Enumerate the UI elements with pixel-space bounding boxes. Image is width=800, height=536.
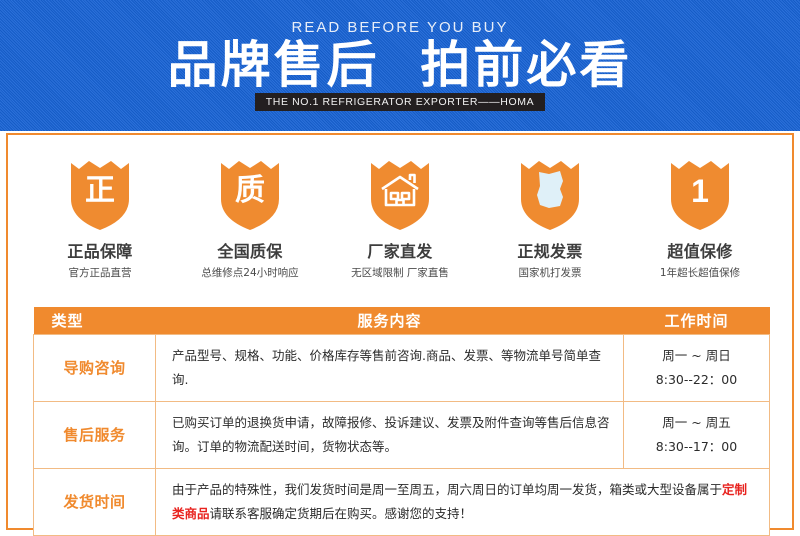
- column-header-content: 服务内容: [156, 307, 624, 334]
- shield-zheng-icon: 正: [69, 159, 131, 231]
- feature-subtitle-3: 国家机打发票: [519, 265, 582, 280]
- service-table-head: 类型 服务内容 工作时间: [34, 307, 770, 334]
- row-hours-days-1: 周一 ~ 周五: [628, 411, 765, 435]
- table-header-row: 类型 服务内容 工作时间: [34, 307, 770, 334]
- feature-subtitle-2: 无区域限制 厂家直售: [351, 265, 449, 280]
- shield-one-icon: 1: [669, 159, 731, 231]
- service-table-wrap: 类型 服务内容 工作时间 导购咨询 产品型号、规格、功能、价格库存等售前咨询.商…: [33, 307, 769, 536]
- banner-chinese-headline: 品牌售后 拍前必看: [0, 38, 800, 92]
- row-label-1: 售后服务: [34, 401, 156, 468]
- table-row-wide: 发货时间 由于产品的特殊性，我们发货时间是周一至周五，周六周日的订单均周一发货，…: [34, 468, 770, 535]
- feature-subtitle-0: 官方正品直营: [69, 265, 132, 280]
- header-banner: READ BEFORE YOU BUY 品牌售后 拍前必看 THE NO.1 R…: [0, 0, 800, 131]
- feature-icon-row: 正 正品保障 官方正品直营 质 全国质保 总维修点24小时响应: [8, 159, 792, 280]
- shield-invoice-icon: [519, 159, 581, 231]
- feature-subtitle-1: 总维修点24小时响应: [201, 265, 298, 280]
- promo-page: READ BEFORE YOU BUY 品牌售后 拍前必看 THE NO.1 R…: [0, 0, 800, 536]
- row-content-1: 已购买订单的退换货申请，故障报修、投诉建议、发票及附件查询等售后信息咨询。订单的…: [156, 401, 624, 468]
- banner-english-headline: READ BEFORE YOU BUY: [0, 19, 800, 36]
- row-content-shipping: 由于产品的特殊性，我们发货时间是周一至周五，周六周日的订单均周一发货，箱类或大型…: [156, 468, 770, 535]
- row-hours-days-0: 周一 ~ 周日: [628, 344, 765, 368]
- shipping-text-after: 请联系客服确定货期后在购买。感谢您的支持！: [210, 506, 473, 521]
- shield-zhi-icon: 质: [219, 159, 281, 231]
- shield-glyph-0: 正: [69, 159, 131, 231]
- column-header-type: 类型: [34, 307, 156, 334]
- feature-title-3: 正规发票: [517, 238, 582, 262]
- shield-house-icon: [369, 159, 431, 231]
- column-header-hours: 工作时间: [624, 307, 770, 334]
- feature-title-1: 全国质保: [217, 238, 282, 262]
- banner-tagline-wrap: THE NO.1 REFRIGERATOR EXPORTER——HOMA: [0, 92, 800, 111]
- row-hours-time-1: 8:30--17：00: [628, 435, 765, 459]
- feature-title-2: 厂家直发: [367, 238, 432, 262]
- shipping-text-before: 由于产品的特殊性，我们发货时间是周一至周五，周六周日的订单均周一发货，箱类或大型…: [172, 482, 722, 497]
- feature-item-3: 正规发票 国家机打发票: [496, 159, 604, 280]
- service-table: 类型 服务内容 工作时间 导购咨询 产品型号、规格、功能、价格库存等售前咨询.商…: [33, 307, 770, 536]
- content-frame: 正 正品保障 官方正品直营 质 全国质保 总维修点24小时响应: [6, 133, 794, 530]
- row-label-0: 导购咨询: [34, 334, 156, 401]
- feature-item-1: 质 全国质保 总维修点24小时响应: [196, 159, 304, 280]
- row-content-0: 产品型号、规格、功能、价格库存等售前咨询.商品、发票、等物流单号简单查询.: [156, 334, 624, 401]
- feature-item-0: 正 正品保障 官方正品直营: [46, 159, 154, 280]
- feature-item-4: 1 超值保修 1年超长超值保修: [646, 159, 754, 280]
- feature-title-4: 超值保修: [667, 238, 732, 262]
- shield-glyph-4: 1: [669, 159, 731, 231]
- row-hours-time-0: 8:30--22：00: [628, 368, 765, 392]
- row-label-shipping: 发货时间: [34, 468, 156, 535]
- table-row: 导购咨询 产品型号、规格、功能、价格库存等售前咨询.商品、发票、等物流单号简单查…: [34, 334, 770, 401]
- row-hours-1: 周一 ~ 周五 8:30--17：00: [624, 401, 770, 468]
- feature-item-2: 厂家直发 无区域限制 厂家直售: [346, 159, 454, 280]
- feature-subtitle-4: 1年超长超值保修: [660, 265, 740, 280]
- banner-tagline: THE NO.1 REFRIGERATOR EXPORTER——HOMA: [255, 93, 545, 111]
- shield-glyph-1: 质: [219, 159, 281, 231]
- service-table-body: 导购咨询 产品型号、规格、功能、价格库存等售前咨询.商品、发票、等物流单号简单查…: [34, 334, 770, 535]
- feature-title-0: 正品保障: [67, 238, 132, 262]
- table-row: 售后服务 已购买订单的退换货申请，故障报修、投诉建议、发票及附件查询等售后信息咨…: [34, 401, 770, 468]
- row-hours-0: 周一 ~ 周日 8:30--22：00: [624, 334, 770, 401]
